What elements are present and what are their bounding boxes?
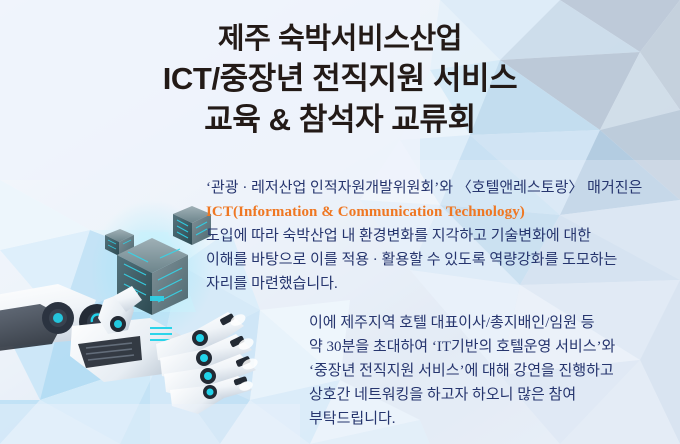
paragraph-two-line-1: 이에 제주지역 호텔 대표이사/총지배인/임원 등 xyxy=(309,311,679,335)
paragraph-two: 이에 제주지역 호텔 대표이사/총지배인/임원 등 약 30분을 초대하여 ‘I… xyxy=(309,311,679,431)
paragraph-one-line-2-accent: ICT(Information & Communication Technolo… xyxy=(206,200,676,224)
paragraph-one-line-1: ‘관광 · 레저산업 인적자원개발위원회’와 〈호텔앤레스토랑〉 매거진은 xyxy=(206,176,676,200)
paragraph-two-line-5: 부탁드립니다. xyxy=(309,407,679,431)
poster-title: 제주 숙박서비스산업 ICT/중장년 전직지원 서비스 교육 & 참석자 교류회 xyxy=(0,22,680,139)
title-line-1: 제주 숙박서비스산업 xyxy=(0,22,680,57)
paragraph-one-line-3: 도입에 따라 숙박산업 내 환경변화를 지각하고 기술변화에 대한 xyxy=(206,224,676,248)
paragraph-one-line-5: 자리를 마련했습니다. xyxy=(206,272,676,296)
title-line-2: ICT/중장년 전직지원 서비스 xyxy=(0,60,680,98)
poster-canvas: 제주 숙박서비스산업 ICT/중장년 전직지원 서비스 교육 & 참석자 교류회… xyxy=(0,0,680,444)
paragraph-two-line-2: 약 30분을 초대하여 ‘IT기반의 호텔운영 서비스’와 xyxy=(309,335,679,359)
paragraph-two-line-4: 상호간 네트워킹을 하고자 하오니 많은 참여 xyxy=(309,383,679,407)
paragraph-one: ‘관광 · 레저산업 인적자원개발위원회’와 〈호텔앤레스토랑〉 매거진은 IC… xyxy=(206,176,676,296)
paragraph-one-line-4: 이해를 바탕으로 이를 적용 · 활용할 수 있도록 역량강화를 도모하는 xyxy=(206,248,676,272)
poster-content: 제주 숙박서비스산업 ICT/중장년 전직지원 서비스 교육 & 참석자 교류회… xyxy=(0,0,680,444)
paragraph-two-line-3: ‘중장년 전직지원 서비스’에 대해 강연을 진행하고 xyxy=(309,359,679,383)
title-line-3: 교육 & 참석자 교류회 xyxy=(0,101,680,139)
